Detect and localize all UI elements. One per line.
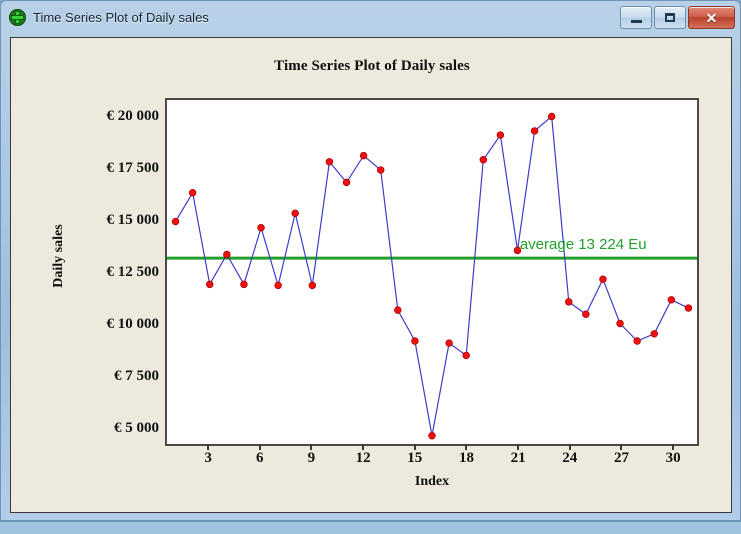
y-tick-label: € 17 500 <box>39 160 159 177</box>
data-point <box>617 320 624 327</box>
caption-buttons: ✕ <box>620 6 735 29</box>
data-point <box>223 251 230 258</box>
data-point <box>309 282 316 289</box>
data-point <box>463 352 470 359</box>
x-tick-mark <box>672 444 674 450</box>
y-axis-tick-labels: € 5 000€ 7 500€ 10 000€ 12 500€ 15 000€ … <box>31 98 159 446</box>
x-tick-label: 6 <box>240 450 280 467</box>
x-tick-label: 12 <box>343 450 383 467</box>
application-window: Time Series Plot of Daily sales ✕ Time S… <box>0 0 741 521</box>
minimize-icon <box>631 20 642 23</box>
x-tick-mark <box>569 444 571 450</box>
y-tick-label: € 7 500 <box>39 368 159 385</box>
data-point <box>326 158 333 165</box>
green-cross-icon <box>9 9 26 26</box>
x-axis-tick-labels: 36912151821242730 <box>165 450 699 474</box>
x-tick-mark <box>465 444 467 450</box>
desktop-strip <box>0 521 741 534</box>
chart-title: Time Series Plot of Daily sales <box>11 58 732 75</box>
data-point <box>360 152 367 159</box>
data-point <box>377 167 384 174</box>
window-title: Time Series Plot of Daily sales <box>33 10 209 25</box>
data-point <box>241 281 248 288</box>
data-point <box>292 210 299 217</box>
x-tick-label: 30 <box>653 450 693 467</box>
y-tick-label: € 15 000 <box>39 212 159 229</box>
average-line-label: average 13 224 Eu <box>520 236 647 253</box>
x-tick-mark <box>259 444 261 450</box>
data-point <box>394 307 401 314</box>
data-point <box>685 305 692 312</box>
x-tick-label: 3 <box>188 450 228 467</box>
y-tick-label: € 20 000 <box>39 108 159 125</box>
close-icon: ✕ <box>706 11 718 25</box>
plot-area <box>165 98 699 446</box>
data-point <box>189 189 196 196</box>
y-tick-label: € 12 500 <box>39 264 159 281</box>
x-tick-label: 9 <box>291 450 331 467</box>
data-point <box>582 311 589 318</box>
data-point <box>275 282 282 289</box>
x-tick-mark <box>414 444 416 450</box>
x-tick-mark <box>620 444 622 450</box>
data-point <box>412 338 419 345</box>
close-button[interactable]: ✕ <box>688 6 735 29</box>
data-point <box>548 113 555 120</box>
data-point <box>343 179 350 186</box>
data-point <box>497 132 504 139</box>
data-point <box>446 340 453 347</box>
data-point <box>668 296 675 303</box>
x-tick-label: 24 <box>550 450 590 467</box>
maximize-button[interactable] <box>654 6 686 29</box>
x-tick-mark <box>310 444 312 450</box>
data-markers <box>172 113 692 439</box>
x-tick-label: 21 <box>498 450 538 467</box>
data-point <box>531 128 538 135</box>
y-tick-label: € 10 000 <box>39 316 159 333</box>
data-point <box>651 330 658 337</box>
minimize-button[interactable] <box>620 6 652 29</box>
data-point <box>600 276 607 283</box>
x-tick-mark <box>517 444 519 450</box>
data-point <box>429 432 436 439</box>
title-bar[interactable]: Time Series Plot of Daily sales ✕ <box>1 1 740 33</box>
data-point <box>206 281 213 288</box>
graph-client-area: Time Series Plot of Daily sales Daily sa… <box>10 37 732 513</box>
data-point <box>480 156 487 163</box>
x-tick-mark <box>207 444 209 450</box>
x-tick-label: 18 <box>446 450 486 467</box>
y-tick-label: € 5 000 <box>39 420 159 437</box>
maximize-icon <box>665 13 675 22</box>
x-axis-title: Index <box>165 474 699 490</box>
data-point <box>172 218 179 225</box>
x-tick-label: 27 <box>601 450 641 467</box>
data-point <box>258 224 265 231</box>
data-point <box>634 338 641 345</box>
series-plot <box>167 100 697 444</box>
x-tick-mark <box>362 444 364 450</box>
data-point <box>565 299 572 306</box>
x-tick-label: 15 <box>395 450 435 467</box>
data-line <box>176 116 689 435</box>
